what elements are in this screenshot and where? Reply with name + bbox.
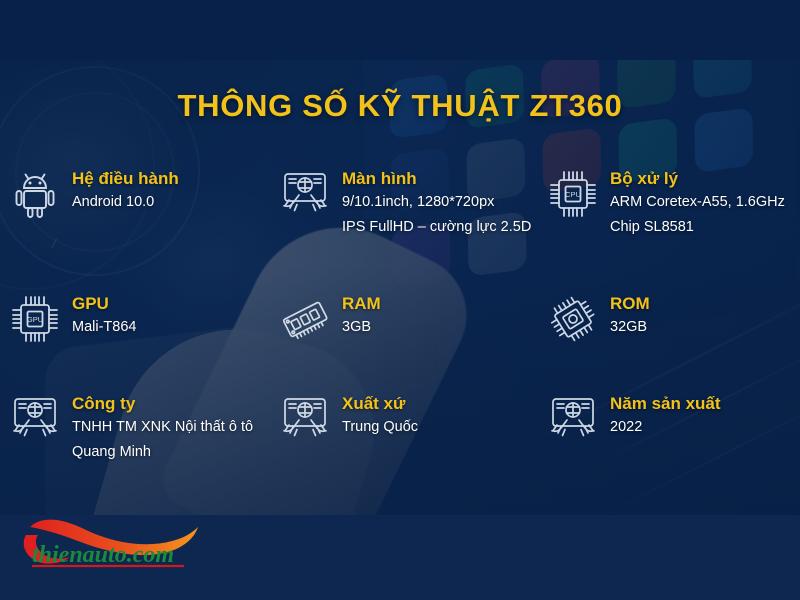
spec-value: 2022 <box>610 417 721 439</box>
spec-value: 3GB <box>342 317 381 339</box>
rom-chip-icon <box>546 292 600 346</box>
spec-text: Công ty TNHH TM XNK Nội thất ô tô Quang … <box>62 390 253 464</box>
top-solid-band <box>0 0 800 60</box>
spec-item-operating-system: Hệ điều hành Android 10.0 <box>0 165 266 290</box>
spec-text: Bộ xử lý ARM Coretex-A55, 1.6GHz Chip SL… <box>600 165 785 239</box>
spec-text: RAM 3GB <box>332 290 381 339</box>
page-title: THÔNG SỐ KỸ THUẬT ZT360 <box>0 88 800 124</box>
spec-label: Công ty <box>72 394 135 413</box>
spec-value: 32GB <box>610 317 650 339</box>
svg-text:CPU: CPU <box>565 190 581 199</box>
spec-label: Hệ điều hành <box>72 169 179 188</box>
spec-text: GPU Mali-T864 <box>62 290 136 339</box>
spec-value: Quang Minh <box>72 442 253 464</box>
spec-item-processor: CPU B <box>532 165 798 290</box>
touchscreen-hands-icon <box>278 167 332 221</box>
spec-item-gpu: GPU G <box>0 290 266 390</box>
spec-value: Mali-T864 <box>72 317 136 339</box>
spec-row: Hệ điều hành Android 10.0 <box>0 165 800 290</box>
spec-value: ARM Coretex-A55, 1.6GHz <box>610 192 785 214</box>
spec-label: RAM <box>342 294 381 313</box>
svg-text:GPU: GPU <box>27 315 43 324</box>
spec-label: Màn hình <box>342 169 417 188</box>
spec-item-origin: Xuất xứ Trung Quốc <box>266 390 532 500</box>
gpu-chip-icon: GPU <box>8 292 62 346</box>
spec-label: Xuất xứ <box>342 394 405 413</box>
touchscreen-hands-icon <box>278 392 332 446</box>
spec-value: Chip SL8581 <box>610 217 785 239</box>
spec-item-company: Công ty TNHH TM XNK Nội thất ô tô Quang … <box>0 390 266 500</box>
infographic-slide: THÔNG SỐ KỸ THUẬT ZT360 <box>0 0 800 600</box>
spec-label: ROM <box>610 294 650 313</box>
spec-item-display: Màn hình 9/10.1inch, 1280*720px IPS Full… <box>266 165 532 290</box>
spec-item-year: Năm sản xuất 2022 <box>532 390 798 500</box>
car-swoosh-logo: thienauto.com <box>12 505 222 587</box>
spec-text: ROM 32GB <box>600 290 650 339</box>
touchscreen-hands-icon <box>8 392 62 446</box>
spec-item-ram: RAM 3GB <box>266 290 532 390</box>
touchscreen-hands-icon <box>546 392 600 446</box>
spec-row: GPU G <box>0 290 800 390</box>
ram-stick-icon <box>278 292 332 346</box>
site-logo[interactable]: thienauto.com <box>12 505 222 587</box>
spec-text: Hệ điều hành Android 10.0 <box>62 165 179 214</box>
spec-row: Công ty TNHH TM XNK Nội thất ô tô Quang … <box>0 390 800 500</box>
spec-grid: Hệ điều hành Android 10.0 <box>0 165 800 500</box>
spec-value: Android 10.0 <box>72 192 179 214</box>
spec-text: Xuất xứ Trung Quốc <box>332 390 418 439</box>
spec-label: Bộ xử lý <box>610 169 678 188</box>
spec-text: Màn hình 9/10.1inch, 1280*720px IPS Full… <box>332 165 531 239</box>
spec-value: 9/10.1inch, 1280*720px <box>342 192 531 214</box>
android-robot-icon <box>8 167 62 221</box>
spec-item-rom: ROM 32GB <box>532 290 798 390</box>
logo-text: thienauto.com <box>32 542 174 568</box>
cpu-chip-icon: CPU <box>546 167 600 221</box>
spec-text: Năm sản xuất 2022 <box>600 390 721 439</box>
spec-value: Trung Quốc <box>342 417 418 439</box>
spec-value: TNHH TM XNK Nội thất ô tô <box>72 417 253 439</box>
spec-label: Năm sản xuất <box>610 394 721 413</box>
spec-label: GPU <box>72 294 109 313</box>
spec-value: IPS FullHD – cường lực 2.5D <box>342 217 531 239</box>
